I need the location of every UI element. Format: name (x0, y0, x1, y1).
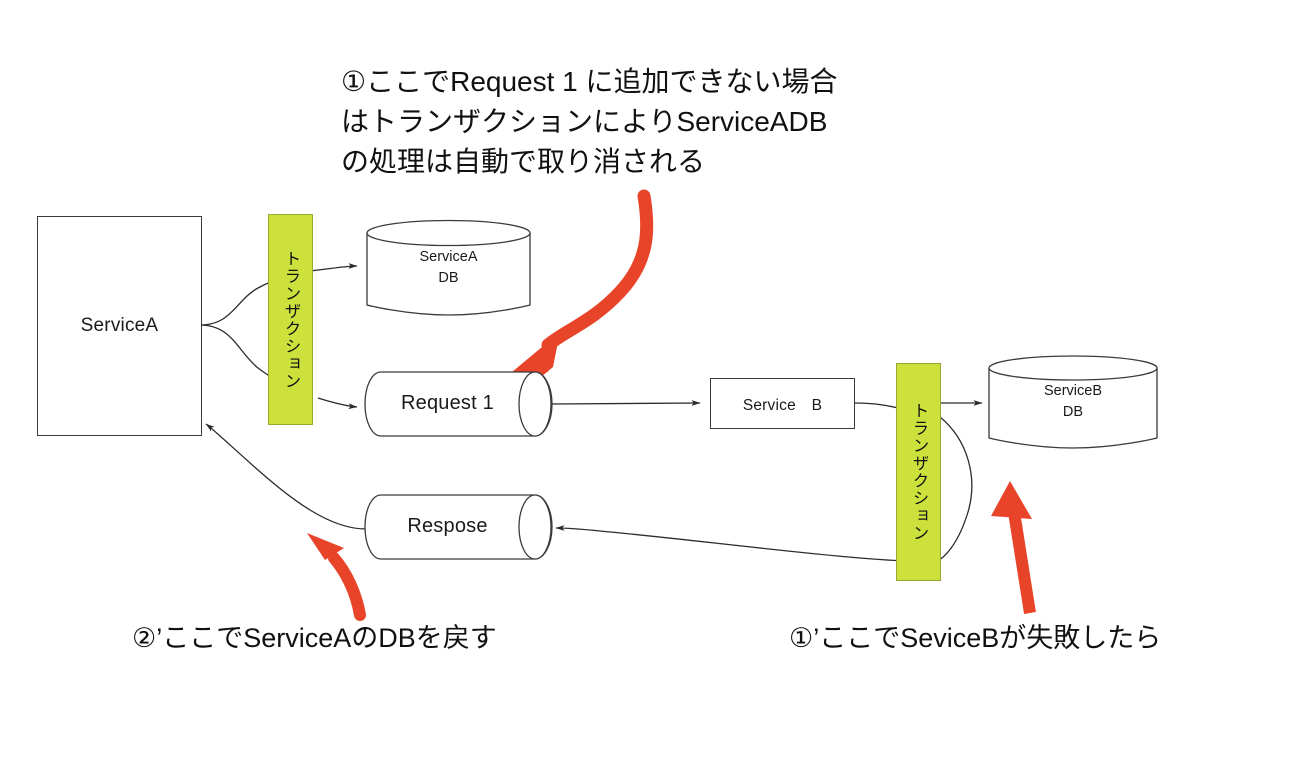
service-a-db-label-line2: DB (366, 268, 531, 289)
red-arrow-note1 (512, 196, 647, 377)
transaction-bar-right-label: トランザクション (909, 364, 928, 580)
transaction-bar-left[interactable]: トランザクション (268, 214, 313, 425)
node-respose[interactable]: Respose (364, 494, 553, 560)
transaction-bar-right[interactable]: トランザクション (896, 363, 941, 581)
respose-label: Respose (364, 515, 553, 538)
red-arrow-note2prime (307, 533, 360, 615)
node-request-1[interactable]: Request 1 (364, 371, 553, 437)
transaction-bar-left-label: トランザクション (281, 215, 300, 424)
annotation-note-1: ①ここでRequest 1 に追加できない場合 はトランザクションによりServ… (341, 62, 981, 181)
service-a-label: ServiceA (81, 315, 159, 337)
service-a-db-label-line1: ServiceA (366, 247, 531, 268)
node-service-a-db[interactable]: ServiceA DB (366, 219, 531, 319)
node-service-a[interactable]: ServiceA (37, 216, 202, 436)
line-request1-to-serviceb (552, 403, 700, 404)
annotation-note-1-prime: ①’ここでSeviceBが失敗したら (789, 621, 1161, 656)
line-to-respose (556, 528, 936, 562)
diagram-canvas: ServiceA トランザクション ServiceA DB Request 1 … (0, 0, 1315, 760)
line-respose-to-servicea (206, 424, 366, 529)
service-b-db-label-line2: DB (988, 402, 1158, 423)
line-transaction-to-serviceadb (318, 266, 357, 270)
red-arrow-note1prime (991, 481, 1032, 613)
service-b-db-label-line1: ServiceB (988, 381, 1158, 402)
annotation-note-2-prime: ②’ここでServiceAのDBを戻す (132, 621, 497, 656)
line-transaction-loop-back (936, 417, 972, 562)
service-b-label: Service B (743, 393, 822, 415)
node-service-b-db[interactable]: ServiceB DB (988, 355, 1158, 451)
line-transaction-to-request1 (318, 398, 357, 407)
node-service-b[interactable]: Service B (710, 378, 855, 429)
line-serviceb-to-transaction-right (855, 403, 902, 409)
request-1-label: Request 1 (364, 392, 553, 415)
